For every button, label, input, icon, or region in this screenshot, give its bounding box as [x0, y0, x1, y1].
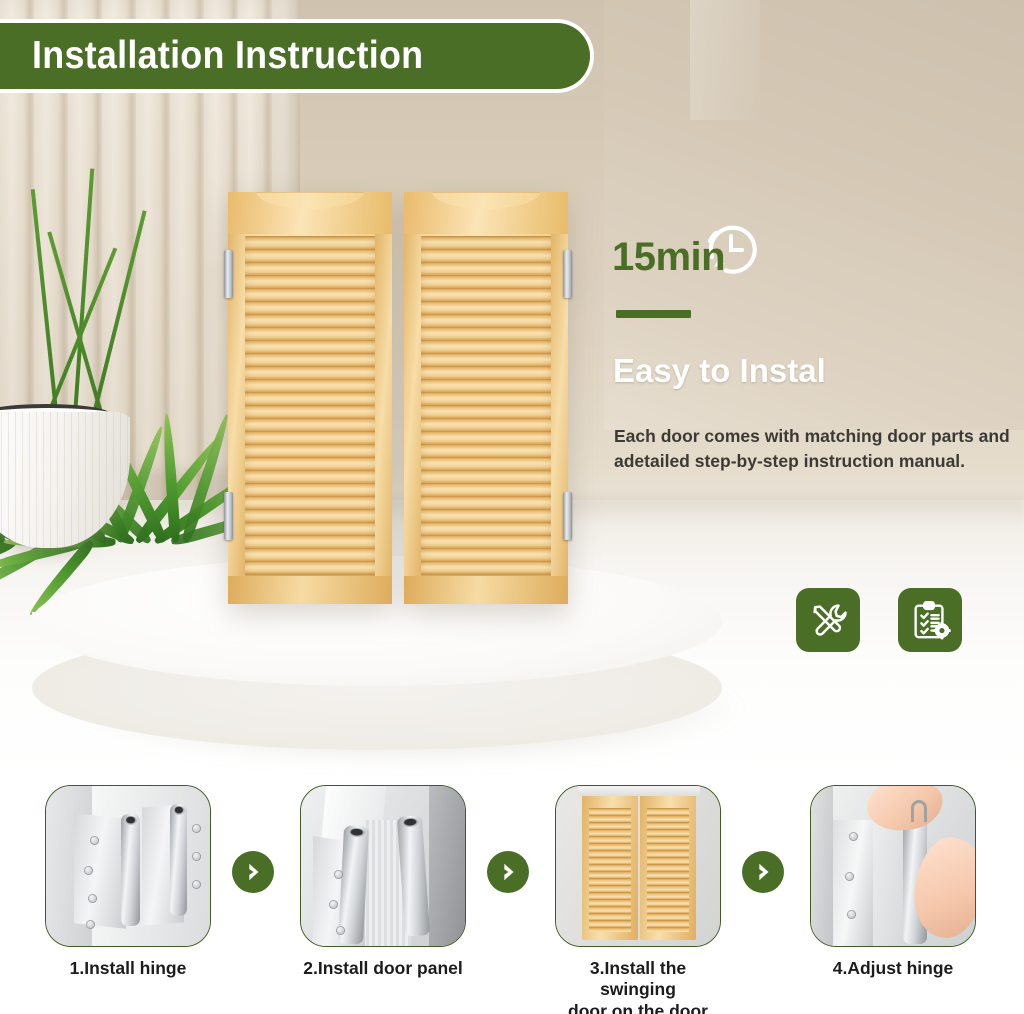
door-bottom-rail — [404, 576, 568, 604]
door-stile — [404, 192, 421, 604]
hinge-screw — [336, 926, 345, 935]
door-hinge — [563, 250, 572, 298]
hinge-screw — [84, 866, 93, 875]
mini-door-right — [640, 792, 696, 940]
palm-plant — [0, 60, 230, 430]
tools-icon-badge — [796, 588, 860, 652]
hinge-screw — [849, 832, 858, 841]
door-hinge — [563, 492, 572, 540]
hinge-screw — [334, 870, 343, 879]
install-time-value: 15min — [612, 235, 725, 280]
door-header-trim — [578, 786, 700, 796]
hinge-pin — [121, 814, 140, 926]
step-2-image — [300, 785, 466, 947]
panel-edge-dark — [429, 786, 466, 947]
hinge-screw — [847, 910, 856, 919]
wall-corner-highlight — [690, 0, 760, 120]
hinge-screw — [192, 880, 201, 889]
hinge-screw — [86, 920, 95, 929]
page-title: Installation Instruction — [32, 34, 423, 78]
door-leaf-left — [228, 192, 392, 604]
step-arrow-2 — [487, 851, 529, 893]
door-hinge — [224, 492, 233, 540]
step-3-caption: 3.Install the swinging door on the door … — [555, 958, 721, 1014]
door-hinge — [224, 250, 233, 298]
step-1: 1.Install hinge — [45, 785, 211, 979]
step-4: 4.Adjust hinge — [810, 785, 976, 979]
product-swinging-doors — [228, 192, 568, 604]
checklist-gear-icon — [908, 598, 952, 642]
step-arrow-1 — [232, 851, 274, 893]
chevron-right-arrow-icon — [242, 861, 264, 883]
hero-scene: 15min Easy to Instal Each door comes wit… — [0, 0, 1024, 777]
step-1-caption: 1.Install hinge — [45, 958, 211, 979]
step-2: 2.Install door panel — [300, 785, 466, 979]
hero-body-copy: Each door comes with matching door parts… — [614, 424, 1014, 475]
door-scalloped-top — [228, 192, 392, 234]
mini-louvers — [589, 808, 631, 932]
hinge-screw — [192, 852, 201, 861]
step-1-image — [45, 785, 211, 947]
mini-louvers — [647, 808, 689, 932]
steps-footer: 1.Install hinge 2.Install door panel — [0, 777, 1024, 1014]
mini-door-left — [582, 792, 638, 940]
hero-headline: Easy to Instal — [613, 352, 826, 390]
hinge-screw — [845, 872, 854, 881]
checklist-icon-badge — [898, 588, 962, 652]
hinge-screw — [88, 894, 97, 903]
door-panel — [873, 812, 903, 947]
door-frame-edge — [811, 786, 833, 947]
tools-icon — [806, 598, 850, 642]
door-stile — [375, 192, 392, 604]
hinge-screw — [192, 824, 201, 833]
door-bottom-rail — [228, 576, 392, 604]
chevron-right-arrow-icon — [497, 861, 519, 883]
hinge-screw — [329, 900, 338, 909]
hinge-pin — [170, 804, 187, 916]
green-divider — [616, 310, 691, 318]
door-scalloped-top — [404, 192, 568, 234]
hinge-screw — [90, 836, 99, 845]
door-louvers — [245, 236, 375, 576]
door-leaf-right — [404, 192, 568, 604]
step-arrow-3 — [742, 851, 784, 893]
adjust-tool-pin — [911, 800, 927, 822]
step-3: 3.Install the swinging door on the door … — [555, 785, 721, 1014]
hinge-leaf — [74, 813, 126, 928]
step-2-caption: 2.Install door panel — [300, 958, 466, 979]
step-4-caption: 4.Adjust hinge — [810, 958, 976, 979]
header-banner: Installation Instruction — [0, 23, 590, 89]
step-4-image — [810, 785, 976, 947]
plant-stem — [72, 168, 94, 430]
wall-surface — [556, 786, 721, 947]
door-louvers — [421, 236, 551, 576]
step-3-image — [555, 785, 721, 947]
chevron-right-arrow-icon — [752, 861, 774, 883]
